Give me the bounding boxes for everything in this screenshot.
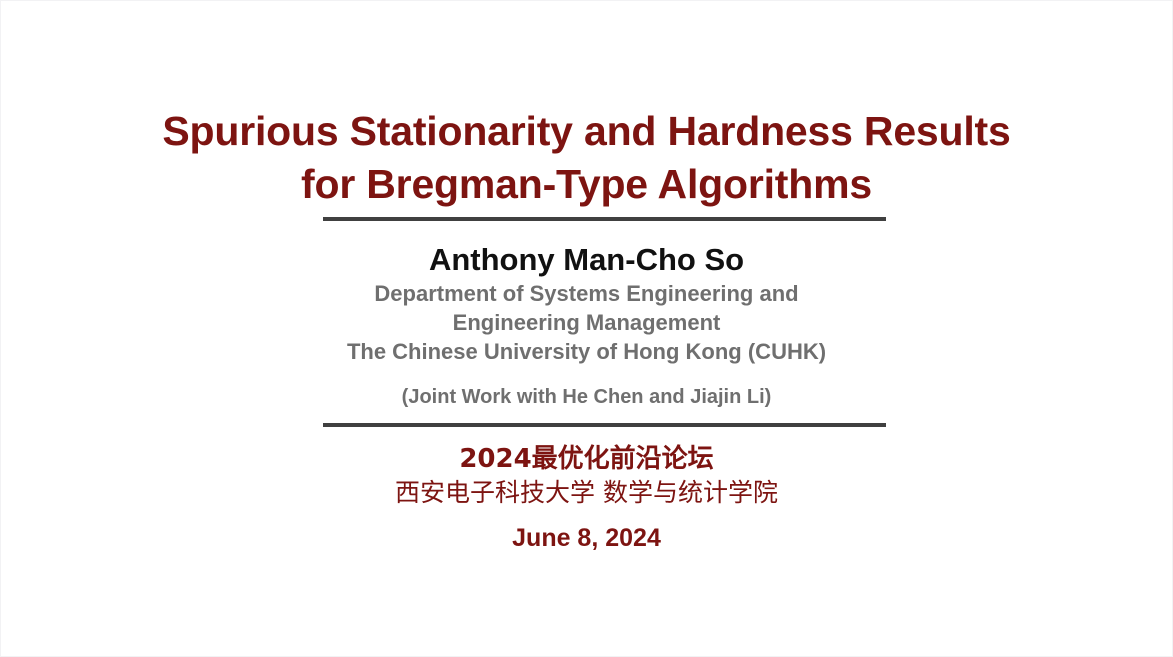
title-line-1: Spurious Stationarity and Hardness Resul…: [1, 105, 1172, 158]
presentation-title-slide: Spurious Stationarity and Hardness Resul…: [0, 0, 1173, 657]
affiliation-line-2: Engineering Management: [1, 308, 1172, 337]
joint-work-credit: (Joint Work with He Chen and Jiajin Li): [1, 384, 1172, 410]
affiliation-line-3: The Chinese University of Hong Kong (CUH…: [1, 337, 1172, 366]
title-line-2: for Bregman-Type Algorithms: [1, 158, 1172, 211]
title-block: Spurious Stationarity and Hardness Resul…: [1, 105, 1172, 211]
author-name: Anthony Man-Cho So: [1, 241, 1172, 279]
divider-rule-top: [323, 217, 886, 221]
author-block: Anthony Man-Cho So Department of Systems…: [1, 241, 1172, 366]
venue-block: 2024最优化前沿论坛 西安电子科技大学 数学与统计学院: [1, 442, 1172, 510]
presentation-date: June 8, 2024: [1, 522, 1172, 554]
venue-event-name: 2024最优化前沿论坛: [1, 442, 1172, 476]
affiliation-line-1: Department of Systems Engineering and: [1, 279, 1172, 308]
venue-host-institution: 西安电子科技大学 数学与统计学院: [1, 476, 1172, 510]
divider-rule-bottom: [323, 423, 886, 427]
